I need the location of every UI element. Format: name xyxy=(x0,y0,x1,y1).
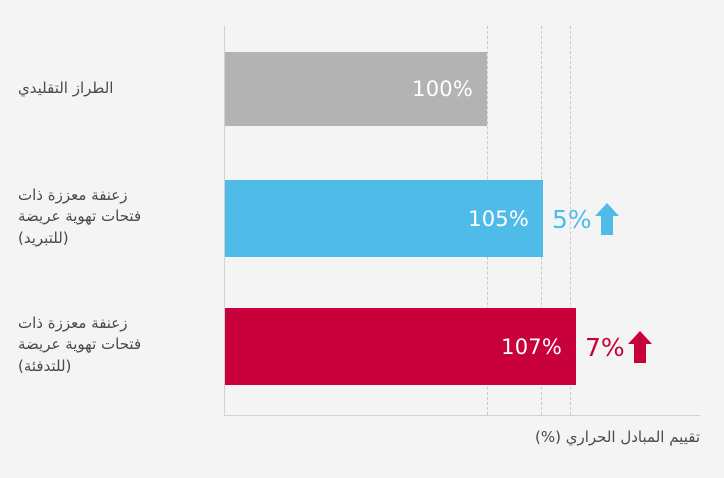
arrow-up-icon xyxy=(594,202,620,236)
delta-value-cooling: 5% xyxy=(552,207,592,232)
bar-cooling: 105% xyxy=(225,180,543,257)
category-label-line: فتحات تهوية عريضة xyxy=(18,334,208,355)
bar-chart: 100% 105% 107% 5% 7% الطراز التقليدي زعن… xyxy=(0,0,724,478)
delta-value-heating: 7% xyxy=(585,335,625,360)
bar-value-cooling: 105% xyxy=(468,207,543,231)
category-label-line: الطراز التقليدي xyxy=(18,78,208,99)
x-axis-line xyxy=(224,415,700,416)
category-label-line: (للتبريد) xyxy=(18,228,208,249)
bar-value-heating: 107% xyxy=(501,335,576,359)
category-label-line: زعنفة معززة ذات xyxy=(18,185,208,206)
category-label-line: (للتدفئة) xyxy=(18,356,208,377)
bar-value-traditional: 100% xyxy=(412,77,487,101)
x-axis-title: تقييم المبادل الحراري (%) xyxy=(535,428,700,446)
delta-annotation-cooling: 5% xyxy=(552,202,620,236)
category-label-line: زعنفة معززة ذات xyxy=(18,313,208,334)
category-label-line: فتحات تهوية عريضة xyxy=(18,206,208,227)
category-label-heating: زعنفة معززة ذات فتحات تهوية عريضة (للتدف… xyxy=(18,313,208,377)
bar-traditional: 100% xyxy=(225,52,487,126)
bar-heating: 107% xyxy=(225,308,576,385)
arrow-up-icon xyxy=(627,330,653,364)
delta-annotation-heating: 7% xyxy=(585,330,653,364)
category-label-traditional: الطراز التقليدي xyxy=(18,78,208,99)
category-label-cooling: زعنفة معززة ذات فتحات تهوية عريضة (للتبر… xyxy=(18,185,208,249)
